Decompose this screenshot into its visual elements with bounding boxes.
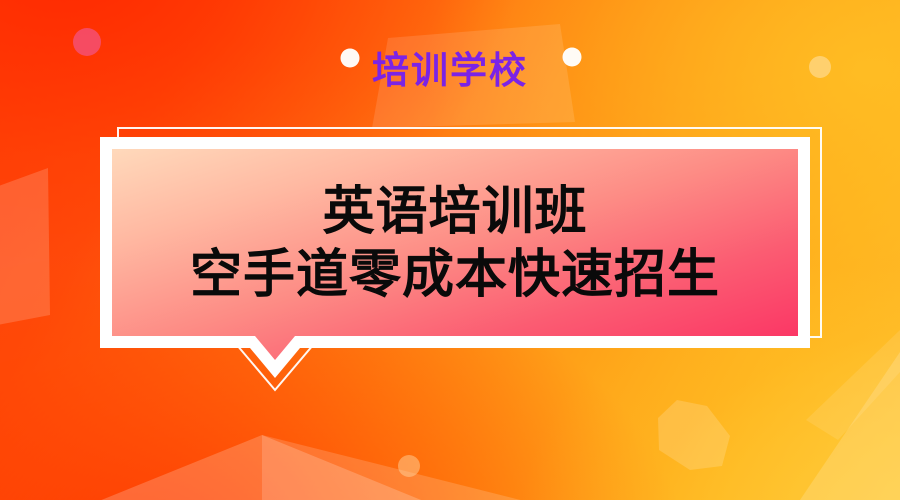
- poster-canvas: 培训学校 英语培训班 空手道零成本快速招生: [0, 0, 900, 500]
- bubble-headline-primary: 英语培训班: [322, 185, 587, 240]
- bubble-headline-secondary: 空手道零成本快速招生: [190, 248, 720, 303]
- page-title: 培训学校: [0, 52, 900, 89]
- bubble-text-block: 英语培训班 空手道零成本快速招生: [112, 152, 798, 336]
